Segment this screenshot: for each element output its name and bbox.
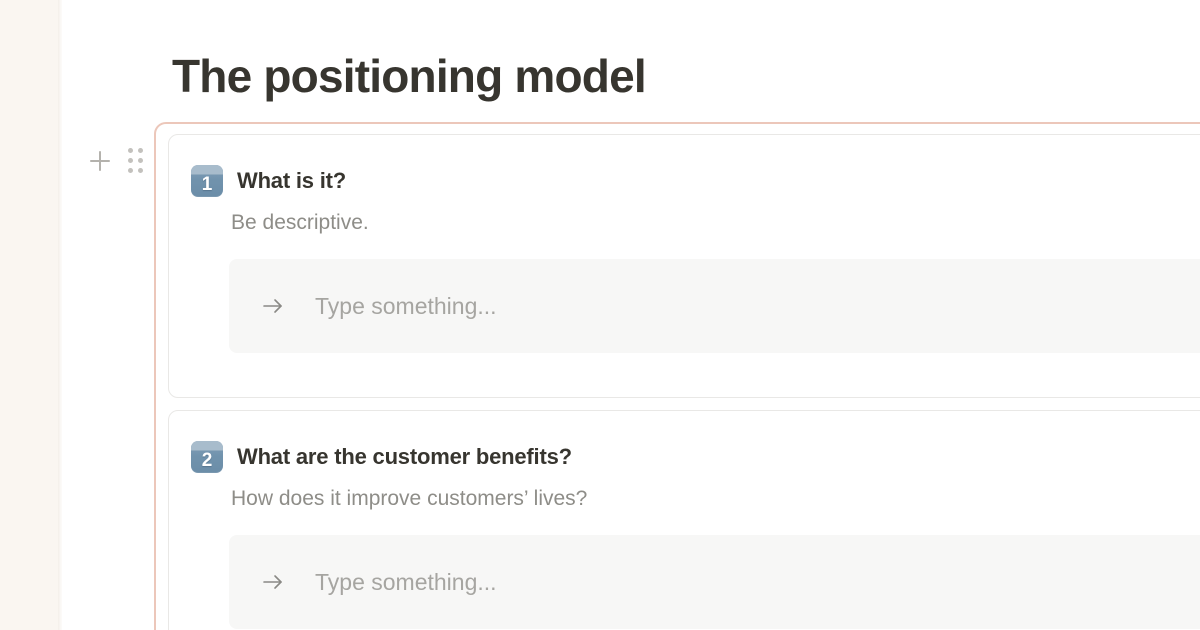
question-subtitle: Be descriptive.: [169, 197, 1200, 235]
question-subtitle: How does it improve customers’ lives?: [169, 473, 1200, 511]
drag-dot: [128, 168, 133, 173]
arrow-right-icon: [261, 570, 285, 594]
number-badge-icon: 1: [191, 165, 223, 197]
drag-dot: [138, 158, 143, 163]
drag-dot: [128, 148, 133, 153]
question-card[interactable]: 1 What is it? Be descriptive. Type somet…: [168, 134, 1200, 398]
number-badge-icon: 2: [191, 441, 223, 473]
question-title: What are the customer benefits?: [237, 444, 572, 470]
answer-input[interactable]: Type something...: [229, 535, 1200, 629]
answer-input-placeholder: Type something...: [315, 293, 497, 320]
plus-icon[interactable]: [88, 149, 112, 173]
question-header: 2 What are the customer benefits?: [169, 411, 1200, 473]
arrow-right-icon: [261, 294, 285, 318]
number-badge-label: 2: [191, 447, 223, 473]
answer-input-placeholder: Type something...: [315, 569, 497, 596]
number-badge-label: 1: [191, 171, 223, 197]
drag-dot: [138, 168, 143, 173]
page-title: The positioning model: [172, 49, 646, 103]
drag-dot: [138, 148, 143, 153]
drag-handle-icon[interactable]: [128, 148, 142, 173]
form-block-container[interactable]: 1 What is it? Be descriptive. Type somet…: [154, 122, 1200, 630]
page-canvas: The positioning model 1 What is it? Be d…: [62, 0, 1200, 630]
question-card[interactable]: 2 What are the customer benefits? How do…: [168, 410, 1200, 630]
answer-input[interactable]: Type something...: [229, 259, 1200, 353]
question-title: What is it?: [237, 168, 346, 194]
question-header: 1 What is it?: [169, 135, 1200, 197]
drag-dot: [128, 158, 133, 163]
sidebar-rail: [0, 0, 58, 630]
block-gutter-controls: [88, 148, 142, 173]
